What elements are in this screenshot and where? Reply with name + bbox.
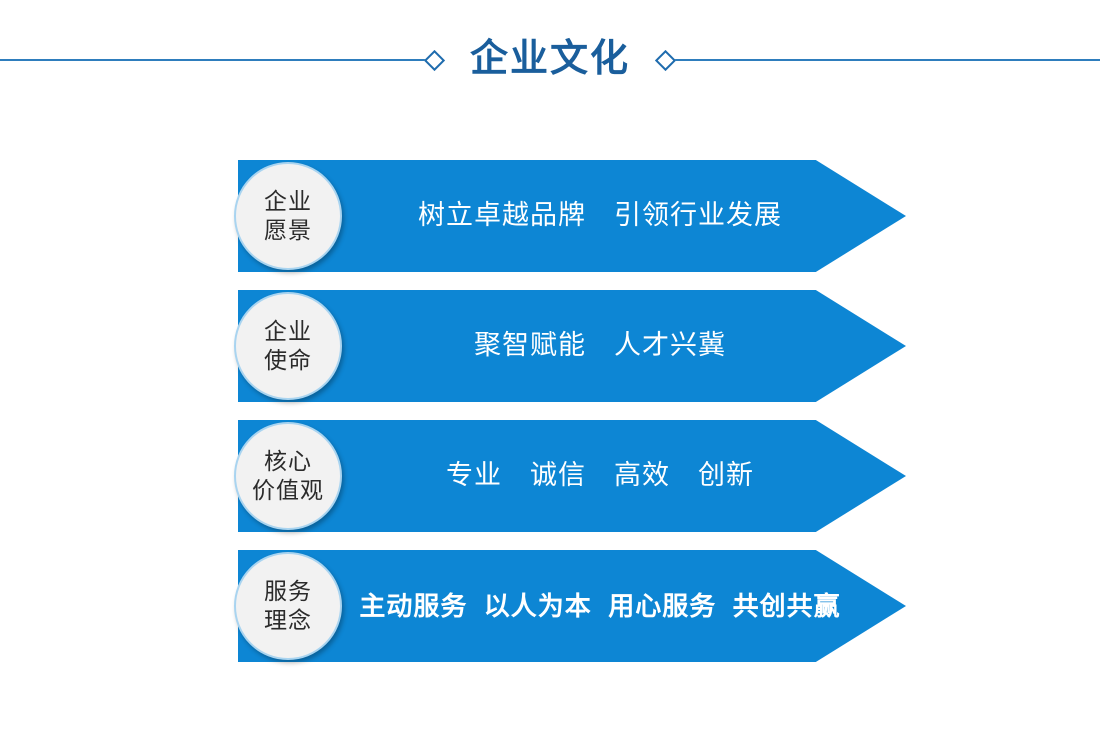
culture-badge[interactable]: 企业 愿景: [234, 162, 342, 270]
culture-badge[interactable]: 核心 价值观: [234, 422, 342, 530]
culture-badge-line-2: 使命: [264, 346, 312, 375]
culture-list: 树立卓越品牌 引领行业发展 企业 愿景 聚智赋能 人才兴冀 企业 使命 专业 诚…: [0, 160, 1100, 680]
culture-badge[interactable]: 服务 理念: [234, 552, 342, 660]
diamond-icon-right: [655, 49, 676, 70]
arrow-banner-text: 主动服务 以人为本 用心服务 共创共赢: [350, 550, 850, 662]
arrow-banner-text: 聚智赋能 人才兴冀: [350, 290, 850, 402]
culture-badge-line-2: 价值观: [252, 476, 324, 505]
page-title: 企业文化: [442, 40, 658, 78]
culture-badge[interactable]: 企业 使命: [234, 292, 342, 400]
culture-badge-line-2: 愿景: [264, 216, 312, 245]
culture-row[interactable]: 主动服务 以人为本 用心服务 共创共赢 服务 理念: [0, 550, 1100, 662]
arrow-banner-text: 专业 诚信 高效 创新: [350, 420, 850, 532]
culture-badge-line-1: 企业: [264, 187, 312, 216]
culture-row[interactable]: 聚智赋能 人才兴冀 企业 使命: [0, 290, 1100, 402]
culture-badge-line-1: 核心: [264, 447, 312, 476]
culture-row[interactable]: 树立卓越品牌 引领行业发展 企业 愿景: [0, 160, 1100, 272]
slide-canvas: 企业文化 树立卓越品牌 引领行业发展 企业 愿景 聚智赋能 人才兴冀 企业 使命…: [0, 0, 1100, 756]
header-rule-right: [673, 59, 1100, 61]
header-rule-left: [0, 59, 427, 61]
culture-badge-line-2: 理念: [264, 606, 312, 635]
culture-row[interactable]: 专业 诚信 高效 创新 核心 价值观: [0, 420, 1100, 532]
culture-badge-line-1: 企业: [264, 317, 312, 346]
page-header: 企业文化: [0, 24, 1100, 94]
arrow-banner-text: 树立卓越品牌 引领行业发展: [350, 160, 850, 272]
culture-badge-line-1: 服务: [264, 577, 312, 606]
